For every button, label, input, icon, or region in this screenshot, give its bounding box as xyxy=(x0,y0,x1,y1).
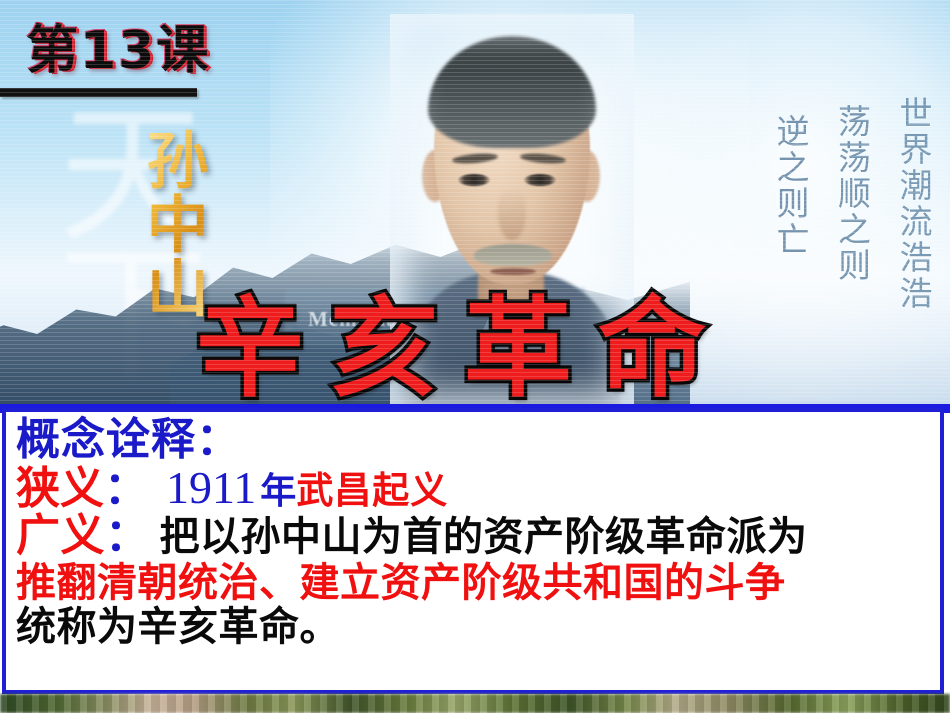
narrow-year-number: 1911 xyxy=(148,462,260,513)
narrow-definition-line: 狭义：1911年武昌起义 xyxy=(16,465,940,512)
presentation-slide: 天下 Memorial 第13课 孙中山 xyxy=(0,0,950,713)
quote-column-3: 逆之则亡 xyxy=(765,114,811,312)
narrow-label: 狭义 xyxy=(16,463,104,514)
broad-colon: ： xyxy=(105,510,150,561)
concept-lines: 概念诠释： 狭义：1911年武昌起义 广义：把以孙中山为首的资产阶级革命派为 推… xyxy=(6,412,940,648)
quote-column-2: 荡荡顺之则 xyxy=(827,104,873,312)
portrait-nose xyxy=(498,188,526,240)
broad-text-part-1: 把以孙中山为首的资产阶级革命派为 xyxy=(150,514,808,560)
chapter-label: 第13课 xyxy=(26,8,210,83)
concept-explanation-box: 概念诠释： 狭义：1911年武昌起义 广义：把以孙中山为首的资产阶级革命派为 推… xyxy=(2,408,944,694)
portrait-mustache xyxy=(474,244,552,266)
portrait-mouth xyxy=(490,268,536,275)
portrait-hair xyxy=(428,36,596,148)
narrow-colon: ： xyxy=(104,463,148,514)
narrow-year-char: 年 xyxy=(260,471,296,512)
broad-text-part-2: 推翻清朝统治、建立资产阶级共和国的斗争 xyxy=(16,563,940,604)
broad-text-part-3: 统称为辛亥革命。 xyxy=(16,607,940,648)
slide-main-title: 辛亥革命 xyxy=(196,296,732,404)
broad-definition-line-1: 广义：把以孙中山为首的资产阶级革命派为 xyxy=(16,514,940,559)
concept-heading: 概念诠释： xyxy=(16,418,940,463)
calligraphy-quote: 逆之则亡 荡荡顺之则 世界潮流浩浩 xyxy=(765,96,934,312)
broad-label: 广义 xyxy=(16,510,105,561)
narrow-event: 武昌起义 xyxy=(296,469,448,512)
quote-column-1: 世界潮流浩浩 xyxy=(888,96,934,312)
chapter-underline-rule xyxy=(0,88,197,97)
bottom-photo-strip-texture xyxy=(0,694,950,713)
portrait-eye-right xyxy=(524,174,556,186)
portrait-eye-left xyxy=(458,174,490,186)
